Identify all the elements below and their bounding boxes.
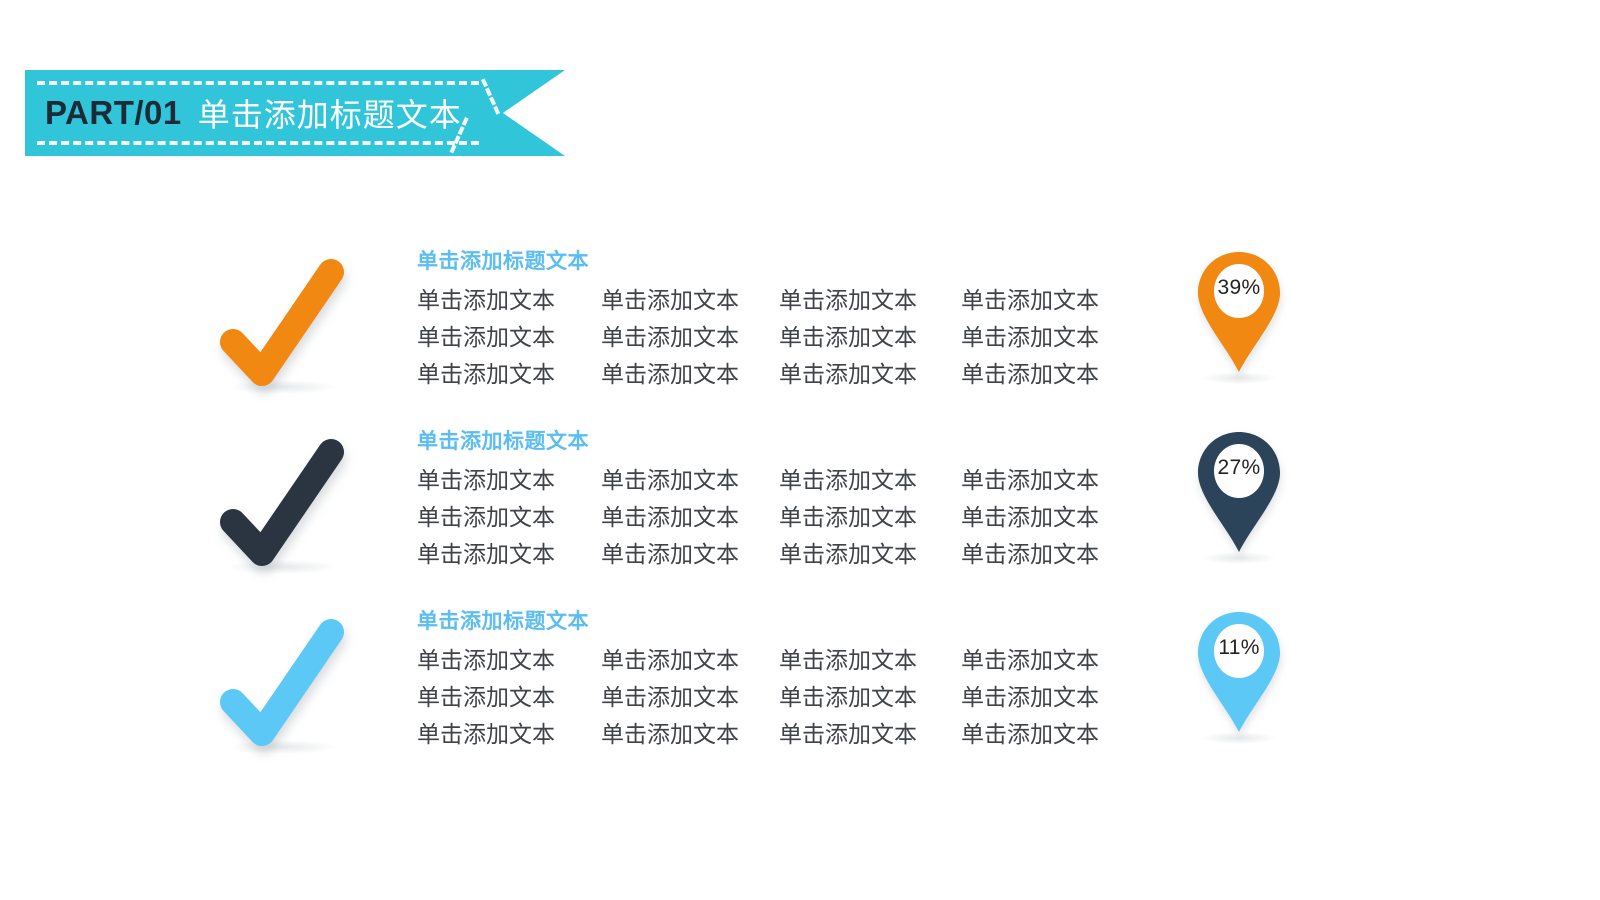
row-heading: 单击添加标题文本 [417, 248, 1147, 276]
row-text-cell: 单击添加文本 [779, 319, 961, 356]
map-pin-cell: 27% [1196, 430, 1292, 580]
row-text-cell: 单击添加文本 [961, 356, 1121, 393]
row-text-cell: 单击添加文本 [779, 462, 961, 499]
row-text-cell: 单击添加文本 [961, 642, 1121, 679]
row-text-line: 单击添加文本单击添加文本单击添加文本单击添加文本 [417, 499, 1147, 536]
row-text-cell: 单击添加文本 [417, 319, 601, 356]
row-text-cell: 单击添加文本 [417, 356, 601, 393]
row-text-cell: 单击添加文本 [961, 319, 1121, 356]
content-row: 单击添加标题文本单击添加文本单击添加文本单击添加文本单击添加文本单击添加文本单击… [0, 428, 1600, 608]
check-icon-cell [215, 248, 365, 408]
map-pin-percentage: 11% [1196, 636, 1282, 660]
row-text-line: 单击添加文本单击添加文本单击添加文本单击添加文本 [417, 536, 1147, 573]
row-text-cell: 单击添加文本 [961, 716, 1121, 753]
row-text-cell: 单击添加文本 [417, 536, 601, 573]
row-text-cell: 单击添加文本 [417, 282, 601, 319]
row-text-cell: 单击添加文本 [779, 282, 961, 319]
check-icon-cell [215, 428, 365, 588]
map-pin-cell: 39% [1196, 250, 1292, 400]
row-text-cell: 单击添加文本 [601, 282, 779, 319]
row-text-cell: 单击添加文本 [779, 499, 961, 536]
row-text-cell: 单击添加文本 [961, 499, 1121, 536]
banner-text-group: PART/01 单击添加标题文本 [45, 70, 462, 156]
row-text-cell: 单击添加文本 [417, 716, 601, 753]
row-text-cell: 单击添加文本 [601, 536, 779, 573]
row-text-line: 单击添加文本单击添加文本单击添加文本单击添加文本 [417, 462, 1147, 499]
check-icon [215, 616, 355, 746]
row-text-line: 单击添加文本单击添加文本单击添加文本单击添加文本 [417, 716, 1147, 753]
content-row: 单击添加标题文本单击添加文本单击添加文本单击添加文本单击添加文本单击添加文本单击… [0, 248, 1600, 428]
row-text-line: 单击添加文本单击添加文本单击添加文本单击添加文本 [417, 642, 1147, 679]
banner-part-number: PART/01 [45, 94, 182, 132]
row-text-cell: 单击添加文本 [417, 462, 601, 499]
content-row: 单击添加标题文本单击添加文本单击添加文本单击添加文本单击添加文本单击添加文本单击… [0, 608, 1600, 788]
row-text-line: 单击添加文本单击添加文本单击添加文本单击添加文本 [417, 356, 1147, 393]
row-text-line: 单击添加文本单击添加文本单击添加文本单击添加文本 [417, 282, 1147, 319]
row-text-cell: 单击添加文本 [417, 499, 601, 536]
row-heading: 单击添加标题文本 [417, 428, 1147, 456]
row-text-block: 单击添加标题文本单击添加文本单击添加文本单击添加文本单击添加文本单击添加文本单击… [417, 248, 1147, 393]
row-text-cell: 单击添加文本 [601, 716, 779, 753]
row-text-block: 单击添加标题文本单击添加文本单击添加文本单击添加文本单击添加文本单击添加文本单击… [417, 608, 1147, 753]
map-pin-percentage: 39% [1196, 276, 1282, 300]
banner-title: 单击添加标题文本 [198, 90, 462, 136]
map-pin-percentage: 27% [1196, 456, 1282, 480]
row-text-block: 单击添加标题文本单击添加文本单击添加文本单击添加文本单击添加文本单击添加文本单击… [417, 428, 1147, 573]
row-text-cell: 单击添加文本 [601, 356, 779, 393]
check-icon-cell [215, 608, 365, 768]
check-icon [215, 256, 355, 386]
row-text-cell: 单击添加文本 [601, 499, 779, 536]
row-text-cell: 单击添加文本 [779, 679, 961, 716]
row-text-cell: 单击添加文本 [417, 679, 601, 716]
row-text-cell: 单击添加文本 [601, 462, 779, 499]
row-text-cell: 单击添加文本 [961, 282, 1121, 319]
row-text-cell: 单击添加文本 [779, 642, 961, 679]
check-icon [215, 436, 355, 566]
row-text-cell: 单击添加文本 [961, 679, 1121, 716]
row-text-line: 单击添加文本单击添加文本单击添加文本单击添加文本 [417, 679, 1147, 716]
map-pin-icon [1196, 610, 1282, 734]
map-pin-icon [1196, 250, 1282, 374]
row-text-cell: 单击添加文本 [779, 356, 961, 393]
map-pin-cell: 11% [1196, 610, 1292, 760]
section-banner: PART/01 单击添加标题文本 [25, 70, 565, 156]
row-text-cell: 单击添加文本 [961, 536, 1121, 573]
map-pin-icon [1196, 430, 1282, 554]
row-text-cell: 单击添加文本 [601, 319, 779, 356]
content-rows: 单击添加标题文本单击添加文本单击添加文本单击添加文本单击添加文本单击添加文本单击… [0, 248, 1600, 788]
row-text-cell: 单击添加文本 [417, 642, 601, 679]
row-text-cell: 单击添加文本 [601, 679, 779, 716]
row-text-cell: 单击添加文本 [779, 536, 961, 573]
row-heading: 单击添加标题文本 [417, 608, 1147, 636]
row-text-cell: 单击添加文本 [961, 462, 1121, 499]
row-text-cell: 单击添加文本 [601, 642, 779, 679]
row-text-cell: 单击添加文本 [779, 716, 961, 753]
row-text-line: 单击添加文本单击添加文本单击添加文本单击添加文本 [417, 319, 1147, 356]
